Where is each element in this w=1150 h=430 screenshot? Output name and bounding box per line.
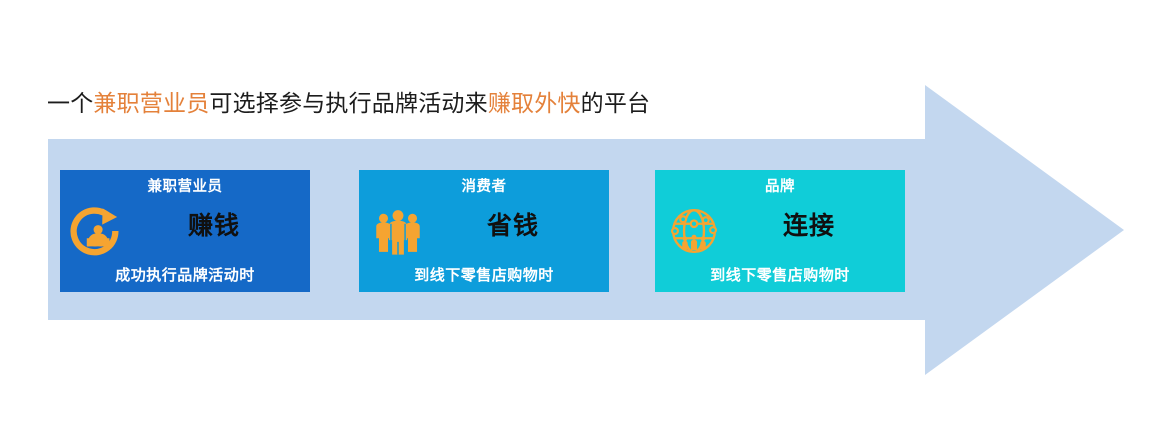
- card-row: 兼职营业员 赚钱 成功执行品牌活动时: [60, 170, 960, 292]
- card-title: 兼职营业员: [60, 175, 310, 196]
- headline-highlight-part-time-clerk: 兼职营业员: [93, 90, 209, 116]
- card-consumer[interactable]: 消费者 省钱 到线下零售店: [359, 170, 609, 292]
- card-main-text: 连接: [713, 206, 905, 242]
- card-title: 消费者: [359, 175, 609, 196]
- slide-canvas: 一个兼职营业员可选择参与执行品牌活动来赚取外快的平台 兼职营业员: [0, 0, 1150, 430]
- card-main-text: 省钱: [417, 206, 609, 242]
- card-title: 品牌: [655, 175, 905, 196]
- headline-highlight-earn-extra: 赚取外快: [488, 90, 581, 116]
- card-footer-text: 到线下零售店购物时: [655, 264, 905, 285]
- card-footer-text: 到线下零售店购物时: [359, 264, 609, 285]
- headline-segment-2: 可选择参与执行品牌活动来: [209, 90, 487, 116]
- headline-segment-4: 的平台: [581, 90, 651, 116]
- card-part-time-clerk[interactable]: 兼职营业员 赚钱 成功执行品牌活动时: [60, 170, 310, 292]
- card-footer-text: 成功执行品牌活动时: [60, 264, 310, 285]
- page-title: 一个兼职营业员可选择参与执行品牌活动来赚取外快的平台: [47, 88, 650, 118]
- headline-segment-0: 一个: [47, 90, 93, 116]
- card-brand[interactable]: 品牌: [655, 170, 905, 292]
- card-main-text: 赚钱: [118, 206, 310, 242]
